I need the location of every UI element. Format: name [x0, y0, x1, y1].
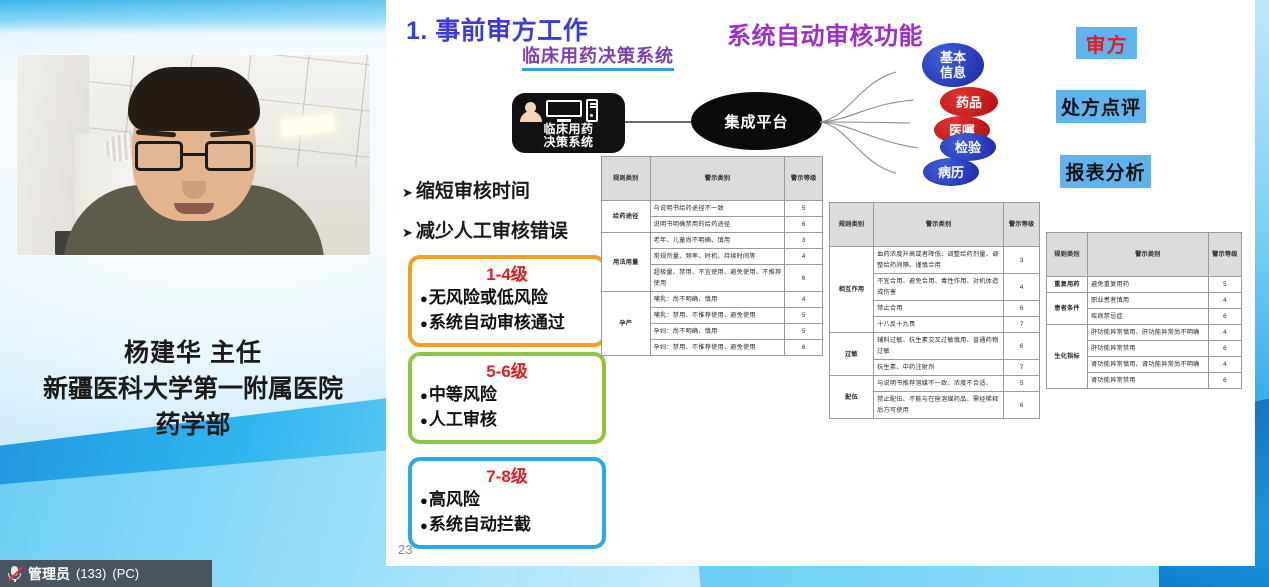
tag-prescription-review[interactable]: 处方点评: [1056, 90, 1146, 123]
table-category-cell: 患者条件: [1047, 293, 1088, 325]
slide-subtitle: 临床用药决策系统: [522, 42, 674, 68]
table-category-cell: 重复用药: [1047, 277, 1088, 293]
table-level-cell: 5: [1004, 376, 1040, 392]
table-level-cell: 6: [1208, 309, 1241, 325]
monitor-icon: [546, 100, 582, 122]
risk-level-label: 7-8级: [420, 466, 594, 488]
presenter-department: 药学部: [0, 407, 386, 443]
mic-muted-icon[interactable]: [7, 565, 22, 582]
table-category-cell: 给药途径: [602, 201, 651, 233]
table-level-cell: 5: [785, 324, 823, 340]
tag-label: 处方点评: [1061, 93, 1141, 120]
table-header-cell: 规则类别: [830, 203, 874, 247]
table-description-cell: 哺乳：禁用、不推荐使用、避免使用: [650, 308, 785, 324]
table-row: 配伍与说明书推荐溶媒不一致、浓度不合适、5: [830, 376, 1040, 392]
video-background: [17, 55, 370, 255]
presenter-name: 杨建华 主任: [0, 335, 386, 371]
cds-node-label-2: 决策系统: [543, 136, 593, 149]
table-level-cell: 6: [1208, 341, 1241, 357]
table-level-cell: 3: [1004, 247, 1040, 274]
table-description-cell: 肝功能异常禁用: [1087, 341, 1208, 357]
table-header-cell: 警示等级: [1208, 233, 1241, 277]
table-level-cell: 5: [785, 201, 823, 217]
speaker-glasses: [135, 141, 253, 171]
table-level-cell: 6: [785, 340, 823, 356]
table-header-cell: 警示等级: [785, 157, 823, 201]
diagram-node-basic-info: 基本信息: [922, 43, 984, 87]
table-row: 重复用药避免重复用药5: [1047, 277, 1242, 293]
diagram-connector: [625, 121, 693, 123]
table-row: 相互作用血药浓度升高或者降低、调整给药剂量、调整给药间隔、谨慎合用3: [830, 247, 1040, 274]
table-description-cell: 孕妇：尚不明确、慎用: [650, 324, 785, 340]
node-label: 检验: [955, 140, 981, 155]
tag-label: 审方: [1086, 29, 1128, 58]
tag-report-analysis[interactable]: 报表分析: [1060, 155, 1151, 188]
table-category-cell: 孕产: [602, 292, 651, 356]
speaker-hair: [128, 67, 260, 131]
tag-shenfang[interactable]: 审方: [1076, 27, 1137, 59]
table-description-cell: 辅料过敏、抗生素交叉过敏慎用、普通药物过敏: [874, 333, 1004, 360]
table-description-cell: 哺乳：尚不明确、慎用: [650, 292, 785, 308]
node-label: 基本信息: [936, 50, 970, 80]
risk-item: 高风险: [420, 488, 594, 513]
risk-box-level-1-4: 1-4级 无风险或低风险 系统自动审核通过: [408, 255, 606, 347]
table-level-cell: 4: [1208, 357, 1241, 373]
table-description-cell: 血药浓度升高或者降低、调整给药剂量、调整给药间隔、谨慎合用: [874, 247, 1004, 274]
table-level-cell: 6: [1004, 392, 1040, 419]
glasses-lens-left: [135, 141, 183, 171]
table-row: 给药途径与说明书给药途径不一致5: [602, 201, 823, 217]
table-description-cell: 疾病禁忌症: [1087, 309, 1208, 325]
risk-box-level-5-6: 5-6级 中等风险 人工审核: [408, 352, 606, 444]
glasses-lens-right: [205, 141, 253, 171]
bullet-item-2: 减少人工审核错误: [402, 216, 568, 243]
speaker-video-tile[interactable]: [17, 55, 370, 255]
status-user: 管理员: [28, 564, 70, 584]
diagram-node-cds: 临床用药 决策系统: [512, 93, 625, 153]
risk-item: 无风险或低风险: [420, 286, 594, 311]
table-description-cell: 与说明书给药途径不一致: [650, 201, 785, 217]
risk-level-label: 1-4级: [420, 264, 594, 286]
table-header-cell: 警示等级: [1004, 203, 1040, 247]
table-description-cell: 抗生素、中药注射剂: [874, 360, 1004, 376]
table-level-cell: 6: [785, 265, 823, 292]
table-level-cell: 6: [1208, 373, 1241, 389]
diagram-node-lab: 检验: [940, 133, 996, 161]
table-header-cell: 规则类别: [602, 157, 651, 201]
table-level-cell: 6: [785, 217, 823, 233]
table-description-cell: 孕妇：禁用、不推荐使用、避免使用: [650, 340, 785, 356]
speaker-nose: [182, 181, 206, 199]
diagram-node-record: 病历: [923, 158, 979, 186]
table-description-cell: 职业患者慎用: [1087, 293, 1208, 309]
presentation-slide[interactable]: 1. 事前审方工作 临床用药决策系统 系统自动审核功能 临床用药 决策系统 集成…: [386, 0, 1255, 566]
table-description-cell: 肝功能异常慎用、肝功能异常尚不明确: [1087, 325, 1208, 341]
tag-label: 报表分析: [1065, 158, 1145, 185]
glasses-bridge: [183, 153, 205, 156]
table-description-cell: 十八反十九畏: [874, 317, 1004, 333]
table-header-cell: 警示类别: [874, 203, 1004, 247]
risk-item: 系统自动拦截: [420, 513, 594, 538]
table-row: 用法用量老年、儿童尚不明确、慎用3: [602, 233, 823, 249]
cds-icon-group: [520, 99, 598, 122]
table-row: 孕产哺乳：尚不明确、慎用4: [602, 292, 823, 308]
risk-item: 中等风险: [420, 383, 594, 408]
table-level-cell: 7: [1004, 317, 1040, 333]
table-level-cell: 5: [1208, 277, 1241, 293]
table-description-cell: 禁止合用: [874, 301, 1004, 317]
table-category-cell: 配伍: [830, 376, 874, 419]
table-row: 患者条件职业患者慎用4: [1047, 293, 1242, 309]
bullet-item-1: 缩短审核时间: [402, 176, 530, 203]
table-description-cell: 老年、儿童尚不明确、慎用: [650, 233, 785, 249]
table-level-cell: 4: [1004, 274, 1040, 301]
table-description-cell: 超极量、禁用、不宜使用、避免使用、不推荐使用: [650, 265, 785, 292]
table-description-cell: 不宜合用、避免合用、毒性作用、对机体造成伤害: [874, 274, 1004, 301]
table-level-cell: 6: [1004, 333, 1040, 360]
table-category-cell: 用法用量: [602, 233, 651, 292]
risk-item: 人工审核: [420, 408, 594, 433]
status-bar: 管理员 (133) (PC): [0, 560, 212, 587]
status-device: (PC): [112, 566, 139, 581]
node-label: 病历: [938, 165, 964, 180]
table-level-cell: 4: [1208, 325, 1241, 341]
diagram-node-drug: 药品: [940, 87, 998, 117]
rule-table-3[interactable]: 规则类别警示类别警示等级重复用药避免重复用药5患者条件职业患者慎用4疾病禁忌症6…: [1046, 232, 1242, 389]
person-icon: [520, 102, 542, 122]
table-header-cell: 警示类别: [1087, 233, 1208, 277]
presenter-caption: 杨建华 主任 新疆医科大学第一附属医院 药学部: [0, 335, 386, 443]
table-level-cell: 7: [1004, 360, 1040, 376]
table-description-cell: 说明书明确禁用的给药途径: [650, 217, 785, 233]
table-level-cell: 4: [785, 249, 823, 265]
table-level-cell: 4: [785, 292, 823, 308]
tower-icon: [586, 99, 598, 122]
table-level-cell: 5: [785, 308, 823, 324]
table-category-cell: 生化指标: [1047, 325, 1088, 389]
node-label: 药品: [956, 95, 982, 110]
table-description-cell: 避免重复用药: [1087, 277, 1208, 293]
table-row: 过敏辅料过敏、抗生素交叉过敏慎用、普通药物过敏6: [830, 333, 1040, 360]
table-description-cell: 常规剂量、频率、时机、持续时间等: [650, 249, 785, 265]
table-header-cell: 规则类别: [1047, 233, 1088, 277]
rule-table-2[interactable]: 规则类别警示类别警示等级相互作用血药浓度升高或者降低、调整给药剂量、调整给药间隔…: [829, 202, 1040, 419]
diagram-fanout-lines: [818, 60, 938, 185]
presenter-organization: 新疆医科大学第一附属医院: [0, 371, 386, 407]
table-level-cell: 4: [1208, 293, 1241, 309]
app-window: 杨建华 主任 新疆医科大学第一附属医院 药学部 1. 事前审方工作 临床用药决策…: [0, 0, 1269, 587]
slide-headline: 系统自动审核功能: [727, 16, 923, 51]
table-description-cell: 与说明书推荐溶媒不一致、浓度不合适、: [874, 376, 1004, 392]
table-level-cell: 6: [1004, 301, 1040, 317]
table-level-cell: 3: [785, 233, 823, 249]
table-category-cell: 过敏: [830, 333, 874, 376]
table-row: 生化指标肝功能异常慎用、肝功能异常尚不明确4: [1047, 325, 1242, 341]
background-top-band: [0, 0, 420, 34]
speaker-mouth: [174, 203, 214, 214]
slide-page-number: 23: [398, 542, 412, 557]
status-id: (133): [76, 566, 106, 581]
table-description-cell: 禁止配伍、不能与在座溶媒药品、需经稀释后方可使用: [874, 392, 1004, 419]
risk-box-level-7-8: 7-8级 高风险 系统自动拦截: [408, 457, 606, 549]
table-header-cell: 警示类别: [650, 157, 785, 201]
risk-level-label: 5-6级: [420, 361, 594, 383]
rule-table-1[interactable]: 规则类别警示类别警示等级给药途径与说明书给药途径不一致5说明书明确禁用的给药途径…: [601, 156, 823, 356]
diagram-node-platform: 集成平台: [691, 92, 822, 150]
table-description-cell: 肾功能异常慎用、肾功能异常尚不明确: [1087, 357, 1208, 373]
risk-item: 系统自动审核通过: [420, 311, 594, 336]
table-category-cell: 相互作用: [830, 247, 874, 333]
table-description-cell: 肾功能异常禁用: [1087, 373, 1208, 389]
